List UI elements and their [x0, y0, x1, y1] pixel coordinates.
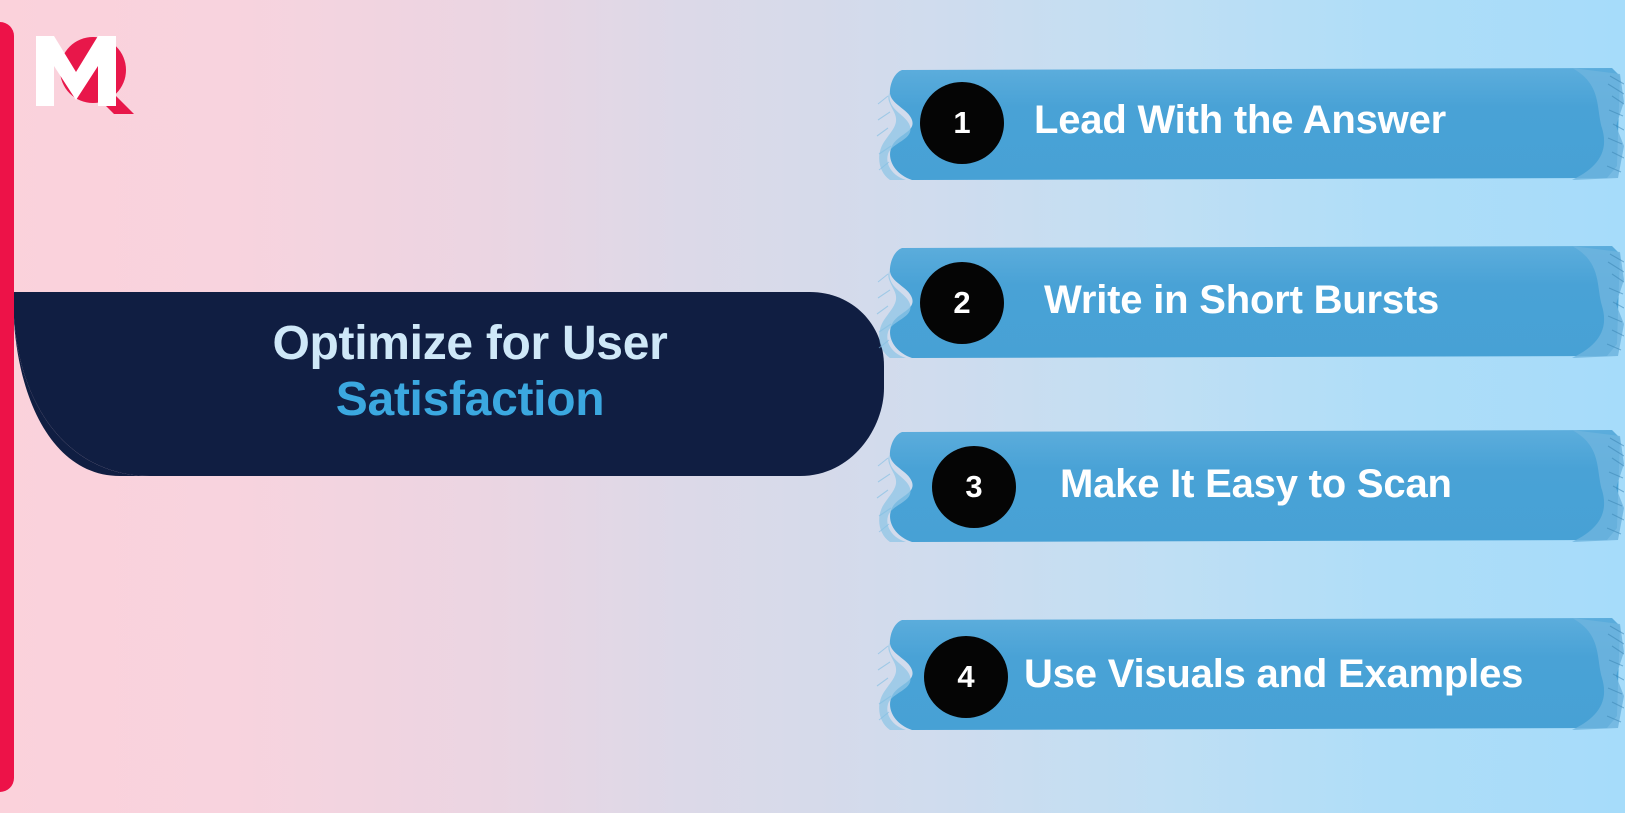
infographic-canvas: Optimize for User Satisfaction [0, 0, 1625, 813]
step-label: Use Visuals and Examples [1024, 652, 1523, 697]
step-banner-4[interactable]: 4 Use Visuals and Examples [872, 612, 1624, 736]
step-number-badge: 2 [920, 262, 1004, 344]
step-number-badge: 1 [920, 82, 1004, 164]
step-number: 2 [953, 285, 970, 321]
step-number-badge: 4 [924, 636, 1008, 718]
step-number: 3 [965, 469, 982, 505]
headline-panel [0, 288, 884, 480]
step-banner-1[interactable]: 1 Lead With the Answer [872, 62, 1624, 186]
step-label: Make It Easy to Scan [1060, 462, 1452, 507]
step-number: 1 [953, 105, 970, 141]
step-number-badge: 3 [932, 446, 1016, 528]
step-banner-3[interactable]: 3 Make It Easy to Scan [872, 424, 1624, 548]
step-label: Write in Short Bursts [1044, 278, 1439, 323]
mq-monogram-logo-icon [30, 26, 146, 114]
step-label: Lead With the Answer [1034, 98, 1446, 143]
step-number: 4 [957, 659, 974, 695]
step-banner-2[interactable]: 2 Write in Short Bursts [872, 240, 1624, 364]
